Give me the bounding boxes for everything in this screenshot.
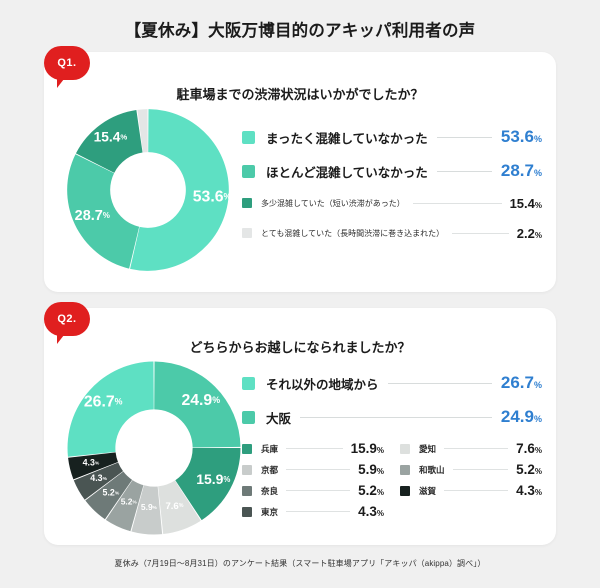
legend-swatch (400, 465, 410, 475)
legend-value: 24.9% (501, 407, 542, 427)
legend-swatch (242, 228, 252, 238)
legend-swatch (242, 444, 252, 454)
legend-label: 愛知 (419, 443, 436, 455)
legend-value: 26.7% (501, 373, 542, 393)
legend-value: 53.6% (501, 127, 542, 147)
legend-row: まったく混雑していなかった53.6% (242, 120, 542, 154)
q2-sub-legend-right-column: 愛知7.6%和歌山5.2%滋賀4.3% (400, 438, 542, 522)
legend-row: 東京4.3% (242, 501, 384, 522)
legend-swatch (242, 131, 255, 144)
legend-value: 4.3% (358, 504, 384, 519)
legend-row: とても混雑していた（長時間渋滞に巻き込まれた）2.2% (242, 218, 542, 248)
q2-legend: それ以外の地域から26.7%大阪24.9%兵庫15.9%京都5.9%奈良5.2%… (242, 366, 542, 522)
legend-leader-line (286, 511, 350, 512)
legend-label: 奈良 (261, 485, 278, 497)
legend-row: 和歌山5.2% (400, 459, 542, 480)
legend-value: 5.9% (358, 462, 384, 477)
legend-value: 4.3% (516, 483, 542, 498)
legend-swatch (242, 198, 252, 208)
q2-card: どちらからお越しになられましたか？ 24.9%15.9%7.6%5.9%5.2%… (44, 308, 556, 545)
legend-leader-line (437, 171, 492, 172)
legend-row: それ以外の地域から26.7% (242, 366, 542, 400)
legend-swatch (400, 444, 410, 454)
legend-label: 滋賀 (419, 485, 436, 497)
q1-question: 駐車場までの渋滞状況はいかがでしたか？ (44, 84, 556, 103)
legend-label: 東京 (261, 506, 278, 518)
legend-value: 15.9% (351, 441, 384, 456)
legend-swatch (242, 486, 252, 496)
legend-label: 京都 (261, 464, 278, 476)
legend-row: 京都5.9% (242, 459, 384, 480)
footer-note: 夏休み（7月19日〜8月31日）のアンケート結果（スマート駐車場アプリ「アキッパ… (0, 558, 600, 569)
legend-row: 兵庫15.9% (242, 438, 384, 459)
legend-row: 多少混雑していた（短い渋滞があった）15.4% (242, 188, 542, 218)
legend-leader-line (286, 448, 343, 449)
legend-label: 多少混雑していた（短い渋滞があった） (261, 198, 405, 209)
legend-leader-line (437, 137, 492, 138)
legend-label: 和歌山 (419, 464, 445, 476)
legend-row: 奈良5.2% (242, 480, 384, 501)
legend-leader-line (453, 469, 509, 470)
legend-row: 愛知7.6% (400, 438, 542, 459)
legend-leader-line (300, 417, 492, 418)
legend-label: とても混雑していた（長時間渋滞に巻き込まれた） (261, 228, 444, 239)
legend-value: 5.2% (358, 483, 384, 498)
legend-row: 大阪24.9% (242, 400, 542, 434)
q1-donut-chart: 53.6%28.7%15.4% (62, 104, 234, 276)
legend-swatch (242, 165, 255, 178)
q1-card: 駐車場までの渋滞状況はいかがでしたか？ 53.6%28.7%15.4% まったく… (44, 52, 556, 292)
legend-leader-line (413, 203, 502, 204)
legend-row: ほとんど混雑していなかった28.7% (242, 154, 542, 188)
legend-label: 大阪 (266, 408, 291, 427)
q2-donut-chart: 24.9%15.9%7.6%5.9%5.2%5.2%4.3%4.3%26.7% (62, 356, 246, 540)
legend-label: 兵庫 (261, 443, 278, 455)
legend-leader-line (444, 448, 508, 449)
page-title: 【夏休み】大阪万博目的のアキッパ利用者の声 (0, 17, 600, 41)
legend-swatch (242, 411, 255, 424)
legend-leader-line (286, 469, 350, 470)
legend-value: 15.4% (510, 196, 542, 211)
legend-label: ほとんど混雑していなかった (266, 162, 428, 181)
legend-leader-line (286, 490, 350, 491)
q2-sub-legend-left-column: 兵庫15.9%京都5.9%奈良5.2%東京4.3% (242, 438, 384, 522)
legend-swatch (242, 465, 252, 475)
legend-label: まったく混雑していなかった (266, 128, 428, 147)
legend-value: 2.2% (517, 226, 542, 241)
legend-value: 5.2% (516, 462, 542, 477)
q1-legend: まったく混雑していなかった53.6%ほとんど混雑していなかった28.7%多少混雑… (242, 120, 542, 248)
legend-leader-line (388, 383, 492, 384)
q2-badge: Q2. (44, 302, 90, 336)
legend-swatch (242, 507, 252, 517)
legend-label: それ以外の地域から (266, 374, 379, 393)
q1-badge: Q1. (44, 46, 90, 80)
infographic-page: 【夏休み】大阪万博目的のアキッパ利用者の声 Q1. 駐車場までの渋滞状況はいかが… (0, 0, 600, 588)
q2-sub-legend-grid: 兵庫15.9%京都5.9%奈良5.2%東京4.3%愛知7.6%和歌山5.2%滋賀… (242, 438, 542, 522)
legend-value: 7.6% (516, 441, 542, 456)
legend-leader-line (452, 233, 509, 234)
legend-swatch (400, 486, 410, 496)
legend-leader-line (444, 490, 508, 491)
q2-question: どちらからお越しになられましたか？ (44, 337, 556, 356)
legend-row: 滋賀4.3% (400, 480, 542, 501)
legend-swatch (242, 377, 255, 390)
legend-value: 28.7% (501, 161, 542, 181)
